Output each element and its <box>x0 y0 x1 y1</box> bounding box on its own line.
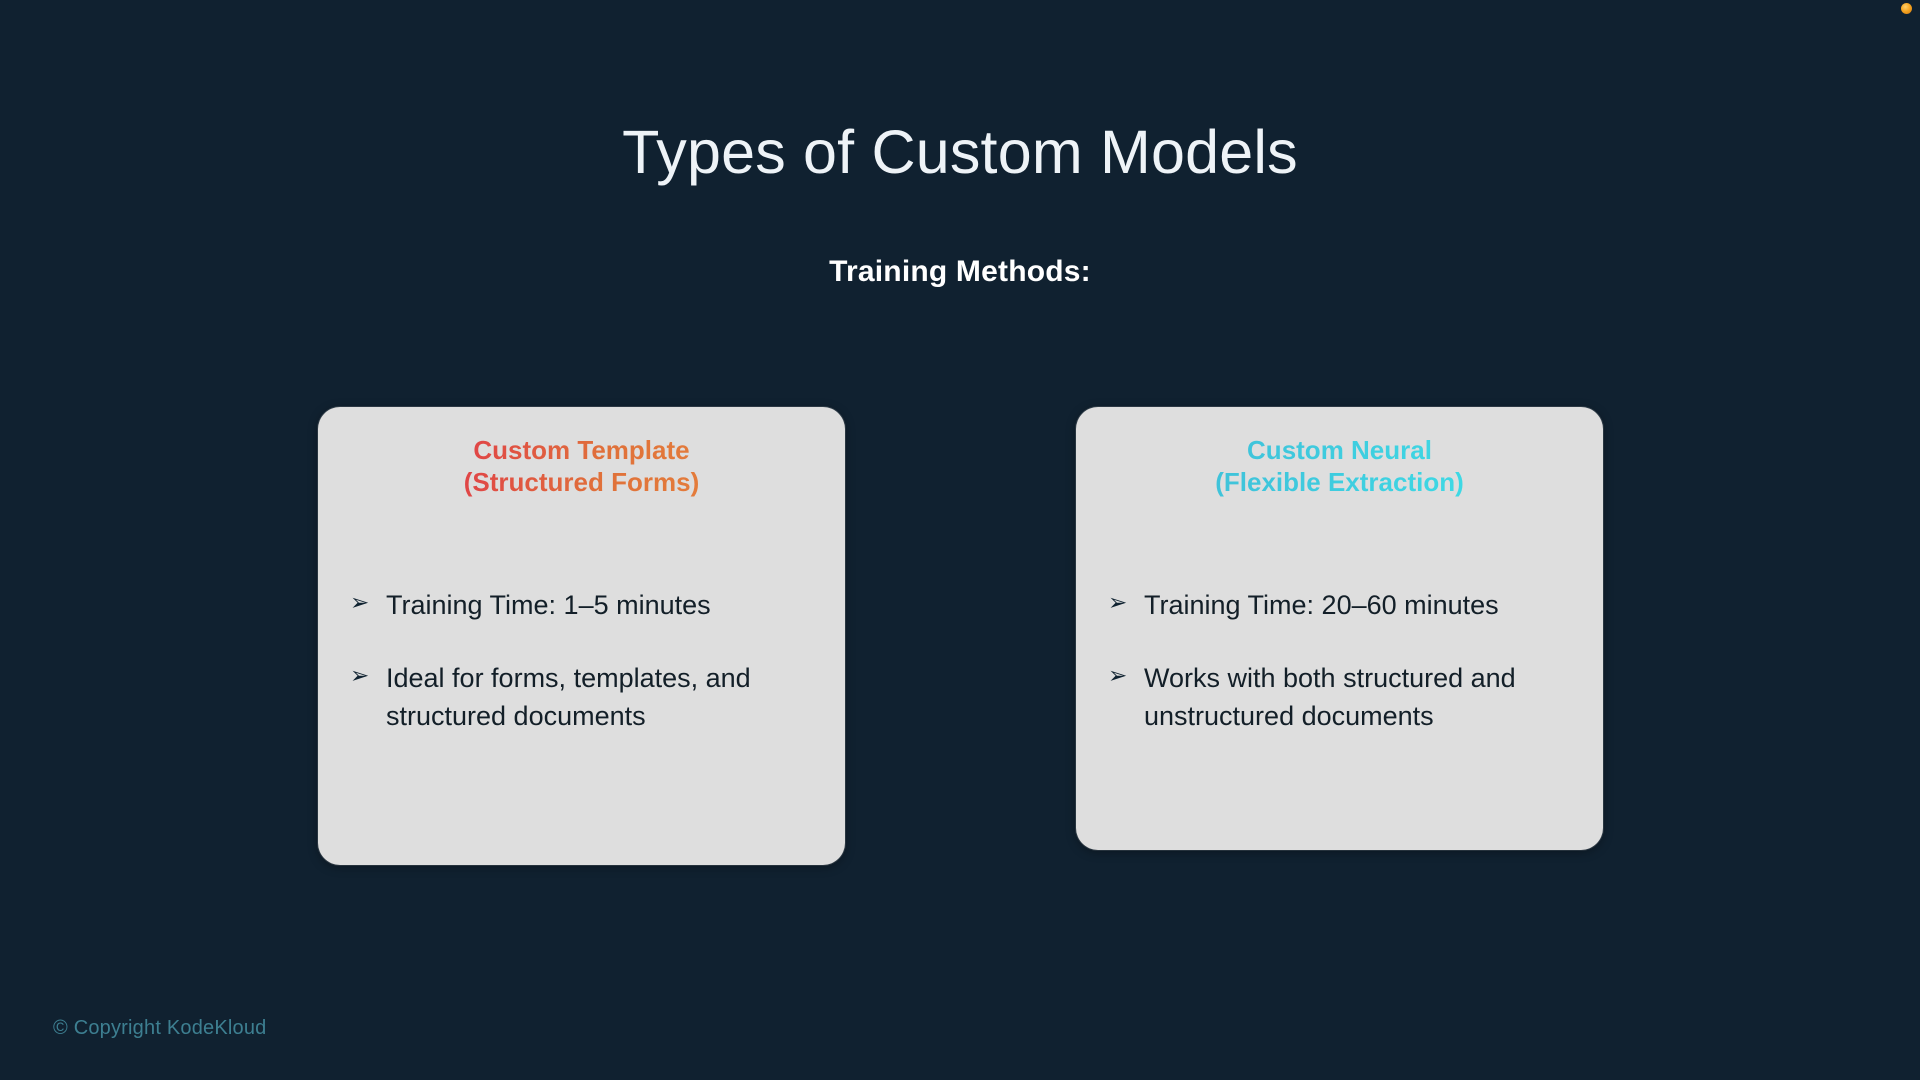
page-title: Types of Custom Models <box>0 119 1920 186</box>
section-subtitle: Training Methods: <box>0 255 1920 289</box>
card-heading-line-2: (Flexible Extraction) <box>1106 467 1573 499</box>
card-heading-line-2: (Structured Forms) <box>348 467 815 499</box>
list-item: ➢ Training Time: 20–60 minutes <box>1108 586 1567 624</box>
copyright-notice: © Copyright KodeKloud <box>53 1017 267 1040</box>
list-item: ➢ Ideal for forms, templates, and struct… <box>350 659 809 736</box>
card-heading-line-1: Custom Neural <box>1106 435 1573 467</box>
slide-canvas: Types of Custom Models Training Methods:… <box>0 0 1920 1080</box>
list-item-label: Works with both structured and unstructu… <box>1144 659 1567 736</box>
card-heading-custom-template: Custom Template (Structured Forms) <box>348 435 815 498</box>
arrow-bullet-icon: ➢ <box>350 586 386 619</box>
list-item: ➢ Training Time: 1–5 minutes <box>350 586 809 624</box>
list-item: ➢ Works with both structured and unstruc… <box>1108 659 1567 736</box>
list-item-label: Ideal for forms, templates, and structur… <box>386 659 809 736</box>
arrow-bullet-icon: ➢ <box>1108 586 1144 619</box>
list-item-label: Training Time: 1–5 minutes <box>386 586 809 624</box>
card-heading-custom-neural: Custom Neural (Flexible Extraction) <box>1106 435 1573 498</box>
recording-dot-icon <box>1901 3 1912 14</box>
list-item-label: Training Time: 20–60 minutes <box>1144 586 1567 624</box>
cards-container: Custom Template (Structured Forms) ➢ Tra… <box>0 407 1920 867</box>
card-custom-template: Custom Template (Structured Forms) ➢ Tra… <box>318 407 845 865</box>
arrow-bullet-icon: ➢ <box>350 659 386 692</box>
bullet-list-custom-neural: ➢ Training Time: 20–60 minutes ➢ Works w… <box>1106 586 1573 735</box>
bullet-list-custom-template: ➢ Training Time: 1–5 minutes ➢ Ideal for… <box>348 586 815 735</box>
arrow-bullet-icon: ➢ <box>1108 659 1144 692</box>
card-custom-neural: Custom Neural (Flexible Extraction) ➢ Tr… <box>1076 407 1603 850</box>
card-heading-line-1: Custom Template <box>348 435 815 467</box>
